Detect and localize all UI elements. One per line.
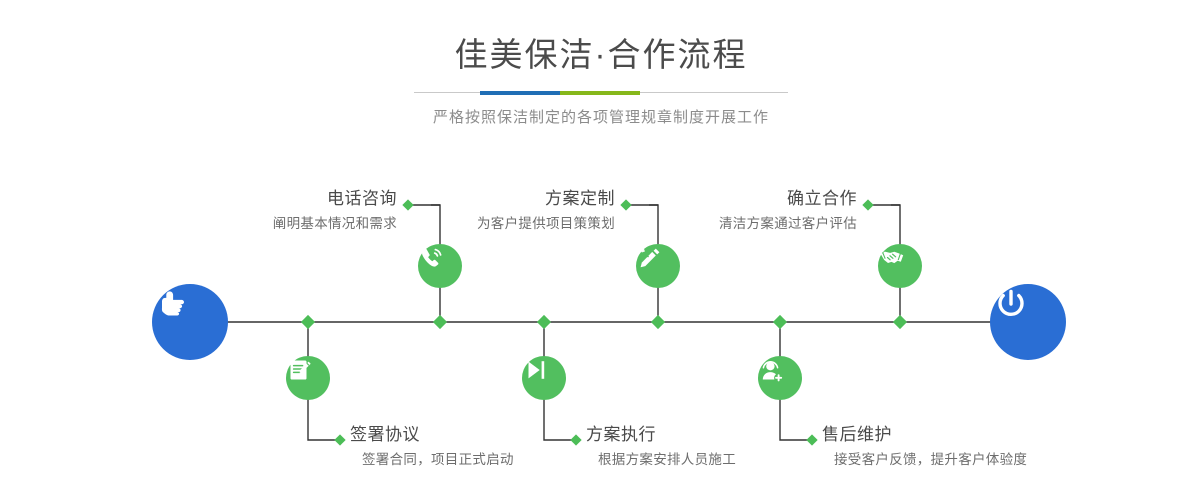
axis-diamond-marker <box>893 315 907 329</box>
step-icon-sign-agreement[interactable] <box>286 356 330 400</box>
axis-diamond-marker <box>301 315 315 329</box>
step-label-top-1: 电话咨询 阐明基本情况和需求 <box>273 188 397 233</box>
label-diamond-marker <box>806 434 817 445</box>
step-icon-phone-consultation[interactable] <box>418 244 462 288</box>
step-label-bottom-1: 签署协议 签署合同，项目正式启动 <box>350 424 514 469</box>
pencil-edit-icon <box>636 244 664 272</box>
step-label-top-2: 方案定制 为客户提供项目策策划 <box>477 188 615 233</box>
sign-document-icon <box>286 356 314 384</box>
axis-diamond-marker <box>537 315 551 329</box>
step-icon-establish-cooperation[interactable] <box>878 244 922 288</box>
step-title: 签署协议 <box>350 424 514 447</box>
phone-call-icon <box>418 244 446 272</box>
label-diamond-marker <box>862 199 873 210</box>
step-description: 阐明基本情况和需求 <box>273 215 397 233</box>
power-icon <box>990 284 1032 326</box>
step-title: 方案执行 <box>586 424 736 447</box>
customer-support-icon <box>758 356 786 384</box>
process-flow-diagram: 电话咨询 阐明基本情况和需求 方案定制 为客户提供项目策策划 确立合作 清洁方案… <box>0 0 1202 502</box>
pointing-hand-icon <box>152 284 192 324</box>
step-icon-after-sales[interactable] <box>758 356 802 400</box>
flow-start-node[interactable] <box>152 284 228 360</box>
label-diamond-marker <box>570 434 581 445</box>
step-label-bottom-2: 方案执行 根据方案安排人员施工 <box>586 424 736 469</box>
flow-end-node[interactable] <box>990 284 1066 360</box>
step-title: 方案定制 <box>477 188 615 211</box>
step-description: 为客户提供项目策策划 <box>477 215 615 233</box>
label-diamond-marker <box>334 434 345 445</box>
step-label-bottom-3: 售后维护 接受客户反馈，提升客户体验度 <box>822 424 1027 469</box>
label-diamond-marker <box>620 199 631 210</box>
step-label-top-3: 确立合作 清洁方案通过客户评估 <box>719 188 857 233</box>
axis-diamond-marker <box>433 315 447 329</box>
handshake-icon <box>878 244 906 272</box>
step-description: 接受客户反馈，提升客户体验度 <box>834 451 1027 469</box>
play-next-icon <box>522 356 550 384</box>
step-title: 确立合作 <box>719 188 857 211</box>
label-diamond-marker <box>402 199 413 210</box>
step-title: 售后维护 <box>822 424 1027 447</box>
axis-diamond-marker <box>651 315 665 329</box>
step-description: 签署合同，项目正式启动 <box>362 451 514 469</box>
step-description: 清洁方案通过客户评估 <box>719 215 857 233</box>
axis-diamond-marker <box>773 315 787 329</box>
step-description: 根据方案安排人员施工 <box>598 451 736 469</box>
step-icon-plan-customization[interactable] <box>636 244 680 288</box>
step-icon-plan-execution[interactable] <box>522 356 566 400</box>
step-title: 电话咨询 <box>273 188 397 211</box>
